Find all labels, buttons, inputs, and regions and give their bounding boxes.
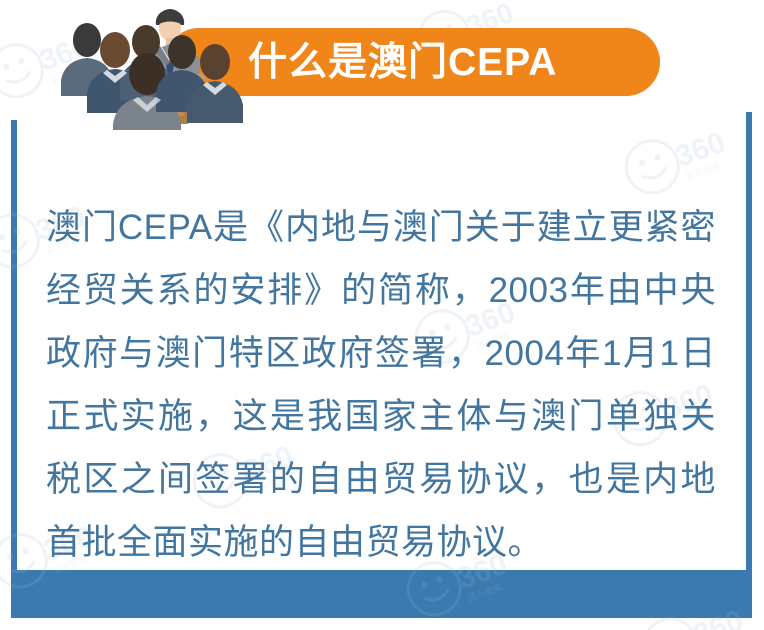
page-title: 什么是澳门CEPA <box>248 38 648 88</box>
svg-text:蓝天图库: 蓝天图库 <box>684 159 722 182</box>
audience-figures <box>61 23 243 130</box>
body-paragraph: 澳门CEPA是《内地与澳门关于建立更紧密经贸关系的安排》的简称，2003年由中央… <box>46 196 716 574</box>
svg-text:360: 360 <box>671 126 729 174</box>
left-accent-bar <box>11 120 17 575</box>
bottom-accent-bar <box>11 570 752 618</box>
right-accent-bar <box>746 112 752 575</box>
poster-page: 360 蓝天图库 360 蓝天图库 360 蓝天图库 <box>0 0 764 630</box>
header-section: 什么是澳门CEPA <box>0 0 764 130</box>
